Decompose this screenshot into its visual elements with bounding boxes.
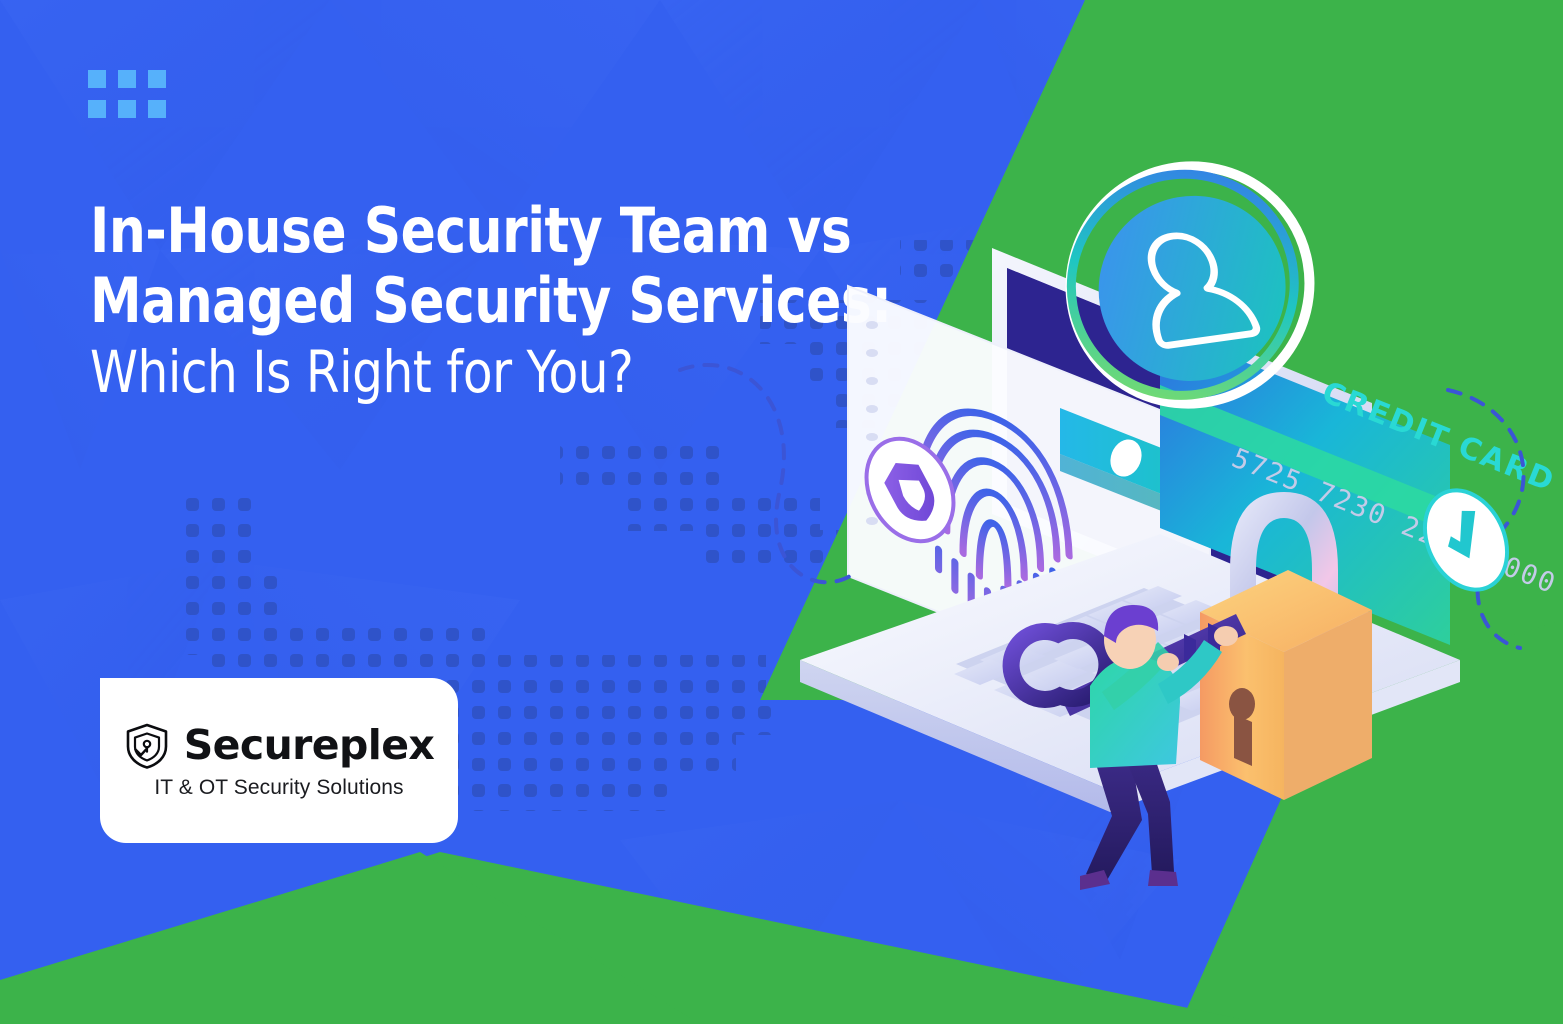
banner-canvas: In-House Security Team vs Managed Securi… <box>0 0 1563 1024</box>
isometric-cyber-security-illustration: 5725 7230 2222 0000 CREDIT CARD <box>760 100 1563 930</box>
logo-card: Secureplex IT & OT Security Solutions <box>100 678 458 843</box>
brand-name: Secureplex <box>184 725 435 766</box>
grid-dot <box>118 70 136 88</box>
grid-dot <box>148 100 166 118</box>
grid-dots-icon <box>88 70 154 118</box>
grid-dot <box>88 70 106 88</box>
brand-tagline: IT & OT Security Solutions <box>154 776 403 800</box>
character-hand-back <box>1157 653 1179 671</box>
grid-dot <box>118 100 136 118</box>
character-hand-front <box>1214 626 1238 646</box>
shield-keyhole-icon <box>124 722 170 770</box>
logo-lockup: Secureplex <box>124 722 435 770</box>
grid-dot <box>148 70 166 88</box>
character-shoe-front <box>1148 870 1178 886</box>
grid-dot <box>88 100 106 118</box>
